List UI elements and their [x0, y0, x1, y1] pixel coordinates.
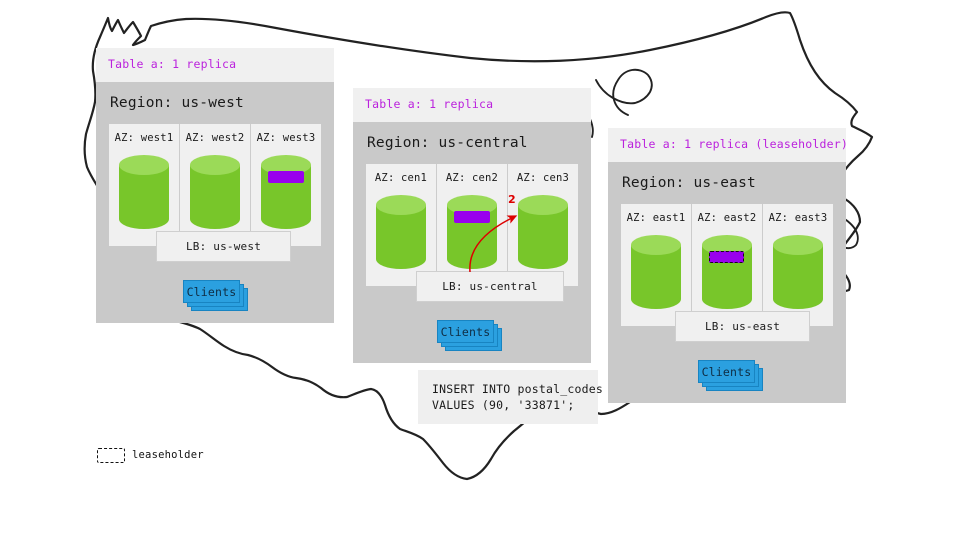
legend-label: leaseholder: [132, 450, 204, 461]
sql-statement-box: INSERT INTO postal_codes VALUES (90, '33…: [418, 370, 598, 424]
clients-stack-us-central[interactable]: Clients: [437, 320, 501, 350]
az-cell-cen2[interactable]: AZ: cen2: [436, 164, 507, 286]
az-cell-cen3[interactable]: AZ: cen3: [507, 164, 578, 286]
az-cell-east2[interactable]: AZ: east2: [691, 204, 762, 326]
region-panel-us-central: Table a: 1 replica Region: us-central AZ…: [353, 88, 591, 363]
replica-block-west3: [268, 171, 304, 183]
clients-button-us-central[interactable]: Clients: [437, 320, 494, 343]
az-label-cen1: AZ: cen1: [375, 173, 427, 184]
az-label-cen2: AZ: cen2: [446, 173, 498, 184]
load-balancer-us-central[interactable]: LB: us-central: [416, 271, 564, 302]
az-cell-east3[interactable]: AZ: east3: [762, 204, 833, 326]
region-title-us-east: Region: us-east: [608, 162, 846, 205]
node-cylinder-east3[interactable]: [772, 234, 824, 310]
clients-button-us-east[interactable]: Clients: [698, 360, 755, 383]
region-title-us-central: Region: us-central: [353, 122, 591, 165]
region-title-us-west: Region: us-west: [96, 82, 334, 125]
arrow-step-label-2: 2: [508, 194, 516, 205]
az-label-east3: AZ: east3: [769, 213, 828, 224]
region-panel-us-west: Table a: 1 replica Region: us-west AZ: w…: [96, 48, 334, 323]
region-panel-us-east: Table a: 1 replica (leaseholder) Region:…: [608, 128, 846, 403]
az-cell-west3[interactable]: AZ: west3: [250, 124, 321, 246]
az-cell-west1[interactable]: AZ: west1: [109, 124, 179, 246]
az-label-cen3: AZ: cen3: [517, 173, 569, 184]
node-cylinder-cen1[interactable]: [375, 194, 427, 270]
node-cylinder-west1[interactable]: [118, 154, 170, 230]
az-row-us-west: AZ: west1 AZ: west2: [109, 124, 321, 246]
load-balancer-us-east[interactable]: LB: us-east: [675, 311, 810, 342]
region-banner-us-east: Table a: 1 replica (leaseholder): [608, 128, 846, 162]
az-label-east2: AZ: east2: [698, 213, 757, 224]
replica-block-leaseholder-east2: [709, 251, 744, 263]
node-cylinder-cen3[interactable]: [517, 194, 569, 270]
az-cell-east1[interactable]: AZ: east1: [621, 204, 691, 326]
az-label-west3: AZ: west3: [257, 133, 316, 144]
region-banner-us-central: Table a: 1 replica: [353, 88, 591, 122]
az-label-west2: AZ: west2: [186, 133, 245, 144]
az-cell-cen1[interactable]: AZ: cen1: [366, 164, 436, 286]
load-balancer-us-west[interactable]: LB: us-west: [156, 231, 291, 262]
clients-stack-us-east[interactable]: Clients: [698, 360, 762, 390]
region-banner-us-west: Table a: 1 replica: [96, 48, 334, 82]
az-label-east1: AZ: east1: [627, 213, 686, 224]
diagram-canvas: Table a: 1 replica Region: us-west AZ: w…: [0, 0, 960, 540]
clients-stack-us-west[interactable]: Clients: [183, 280, 247, 310]
az-row-us-central: AZ: cen1 AZ: cen2: [366, 164, 578, 286]
az-row-us-east: AZ: east1 AZ: east2: [621, 204, 833, 326]
node-cylinder-west3[interactable]: [260, 154, 312, 230]
dashed-rect-icon: [97, 448, 125, 463]
replica-block-cen2: [454, 211, 490, 223]
legend: leaseholder: [97, 448, 204, 463]
node-cylinder-east1[interactable]: [630, 234, 682, 310]
clients-button-us-west[interactable]: Clients: [183, 280, 240, 303]
node-cylinder-west2[interactable]: [189, 154, 241, 230]
node-cylinder-east2[interactable]: [701, 234, 753, 310]
az-cell-west2[interactable]: AZ: west2: [179, 124, 250, 246]
az-label-west1: AZ: west1: [115, 133, 174, 144]
node-cylinder-cen2[interactable]: [446, 194, 498, 270]
